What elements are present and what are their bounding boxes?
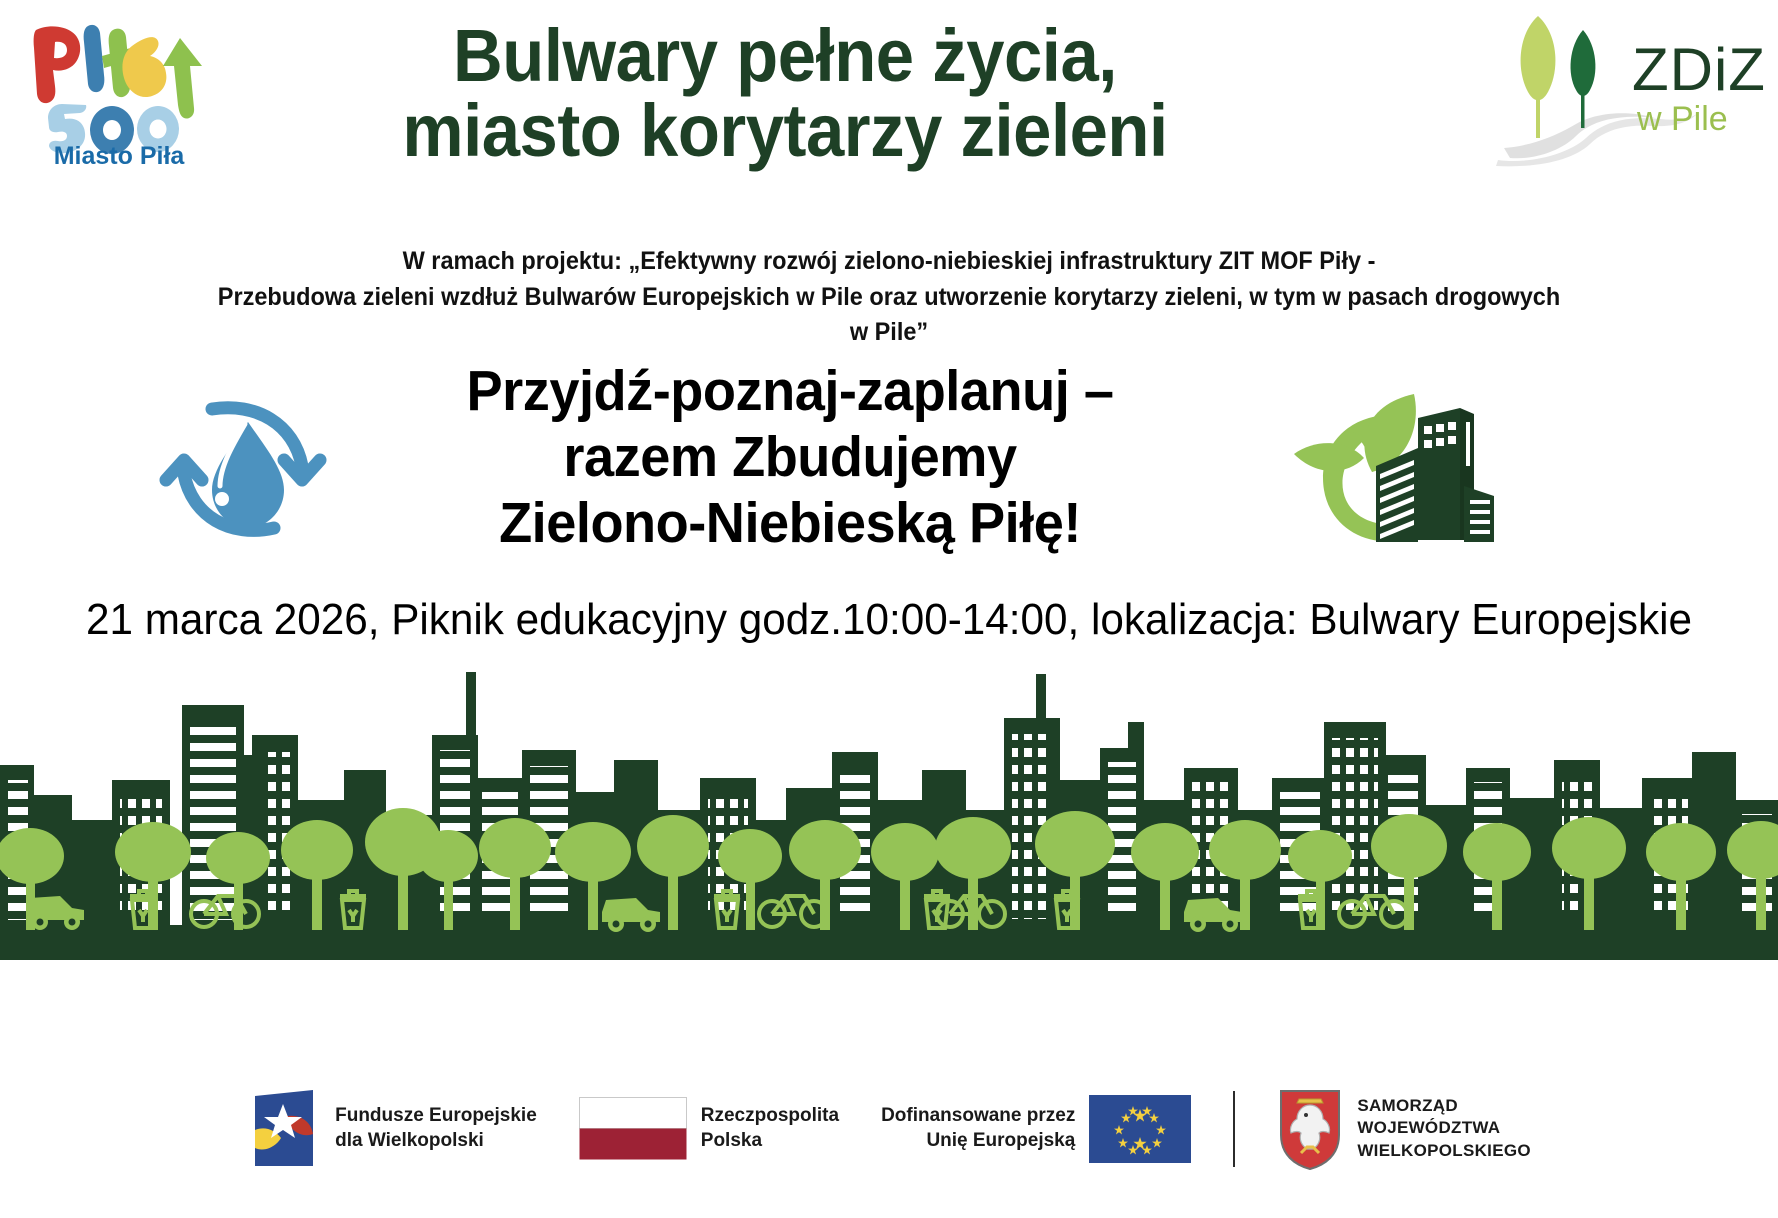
unia-europejska-label: Dofinansowane przez Unię Europejską xyxy=(881,1104,1075,1153)
pila-logo-caption: Miasto Piła xyxy=(54,142,186,168)
call-to-action: Przyjdź-poznaj-zaplanuj – razem Zbudujem… xyxy=(330,358,1250,556)
eco-city-leaf-icon xyxy=(1268,370,1508,550)
poster-root: Miasto Piła Bulwary pełne życia, miasto … xyxy=(0,0,1778,1218)
project-desc-line-1: W ramach projektu: „Efektywny rozwój zie… xyxy=(53,244,1724,280)
pila-500-logo: Miasto Piła xyxy=(14,8,224,168)
samorzad-wielkopolskiego-logo: SAMORZĄD WOJEWÓDZTWA WIELKOPOLSKIEGO xyxy=(1277,1087,1531,1171)
unia-europejska-logo: Dofinansowane przez Unię Europejską xyxy=(881,1095,1191,1163)
fundusze-europejskie-logo: Fundusze Europejskie dla Wielkopolski xyxy=(247,1086,537,1172)
zdiz-wordmark: ZDiZ xyxy=(1632,36,1766,103)
fundusze-europejskie-label: Fundusze Europejskie dla Wielkopolski xyxy=(335,1104,537,1153)
funding-logos-footer: Fundusze Europejskie dla Wielkopolski Rz… xyxy=(0,975,1778,1218)
project-desc-line-2: Przebudowa zieleni wzdłuż Bulwarów Europ… xyxy=(53,280,1724,316)
rzeczpospolita-polska-label: Rzeczpospolita Polska xyxy=(701,1104,839,1153)
eu-flag xyxy=(1089,1095,1191,1163)
project-description: W ramach projektu: „Efektywny rozwój zie… xyxy=(53,244,1724,351)
project-desc-line-3: w Pile” xyxy=(53,315,1724,351)
green-city-illustration xyxy=(0,660,1778,960)
poster-title: Bulwary pełne życia, miasto korytarzy zi… xyxy=(280,18,1290,169)
cta-line-2: razem Zbudujemy xyxy=(353,424,1227,490)
title-line-1: Bulwary pełne życia, xyxy=(315,18,1254,93)
rzeczpospolita-polska-logo: Rzeczpospolita Polska xyxy=(579,1097,839,1161)
footer-divider xyxy=(1233,1091,1235,1167)
zdiz-w-pile-logo: ZDiZ w Pile xyxy=(1480,8,1770,168)
eu-funds-star-emblem xyxy=(247,1086,321,1172)
polish-flag xyxy=(579,1097,687,1161)
cta-line-3: Zielono-Niebieską Piłę! xyxy=(353,490,1227,556)
water-droplet-recycle-icon xyxy=(148,362,338,552)
event-details-line: 21 marca 2026, Piknik edukacyjny godz.10… xyxy=(36,595,1743,645)
title-line-2: miasto korytarzy zieleni xyxy=(315,93,1254,168)
samorzad-wielkopolskiego-label: SAMORZĄD WOJEWÓDZTWA WIELKOPOLSKIEGO xyxy=(1357,1095,1531,1161)
zdiz-subline: w Pile xyxy=(1636,100,1728,138)
cta-line-1: Przyjdź-poznaj-zaplanuj – xyxy=(353,358,1227,424)
wielkopolska-coat-of-arms xyxy=(1277,1087,1343,1171)
